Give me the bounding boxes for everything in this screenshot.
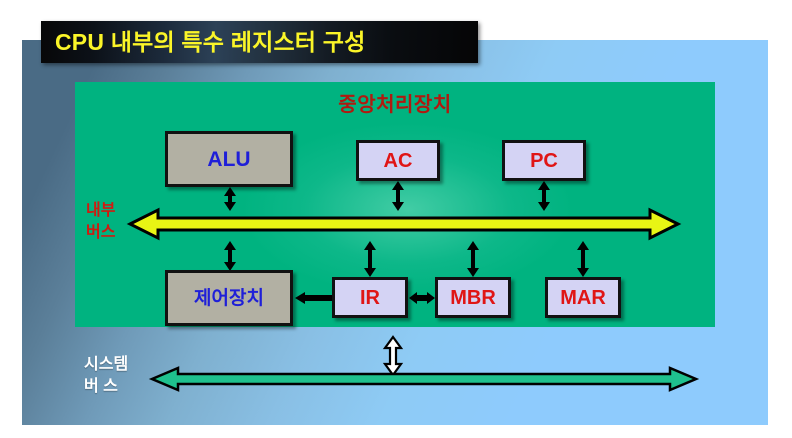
unit-mar-label: MAR [560, 288, 606, 308]
slide-title: CPU 내부의 특수 레지스터 구성 [41, 31, 365, 54]
internal-bus-label: 내부 버스 [86, 200, 115, 243]
internal-bus-label-line1: 내부 [86, 200, 115, 222]
unit-control-unit-label: 제어장치 [194, 289, 264, 308]
connector-bus-to-ir [359, 240, 381, 278]
unit-control-unit[interactable]: 제어장치 [165, 270, 293, 326]
unit-alu-label: ALU [207, 149, 250, 170]
unit-ac[interactable]: AC [356, 140, 440, 181]
unit-alu[interactable]: ALU [165, 131, 293, 187]
connector-ir-to-cu [294, 288, 334, 308]
cpu-region-label: 중앙처리장치 [75, 88, 715, 117]
unit-pc-label: PC [530, 151, 558, 171]
slide-canvas: CPU 내부의 특수 레지스터 구성 중앙처리장치 내부 버스 시스템 버 스 [0, 0, 792, 438]
connector-bus-to-mar [572, 240, 594, 278]
unit-pc[interactable]: PC [502, 140, 586, 181]
connector-bus-to-mbr [462, 240, 484, 278]
system-bus-label-line2: 버 스 [84, 376, 128, 398]
unit-mar[interactable]: MAR [545, 277, 621, 318]
unit-ac-label: AC [384, 151, 413, 171]
system-bus [150, 366, 698, 392]
internal-bus [128, 208, 680, 240]
unit-mbr-label: MBR [450, 288, 496, 308]
connector-bus-to-cu [219, 240, 241, 272]
system-bus-label-line1: 시스템 [84, 354, 128, 376]
slide-title-bar: CPU 내부의 특수 레지스터 구성 [41, 21, 478, 63]
connector-ir-to-mbr [408, 288, 436, 308]
system-bus-label: 시스템 버 스 [84, 354, 128, 397]
unit-mbr[interactable]: MBR [435, 277, 511, 318]
unit-ir-label: IR [360, 288, 380, 308]
internal-bus-label-line2: 버스 [86, 222, 115, 244]
unit-ir[interactable]: IR [332, 277, 408, 318]
